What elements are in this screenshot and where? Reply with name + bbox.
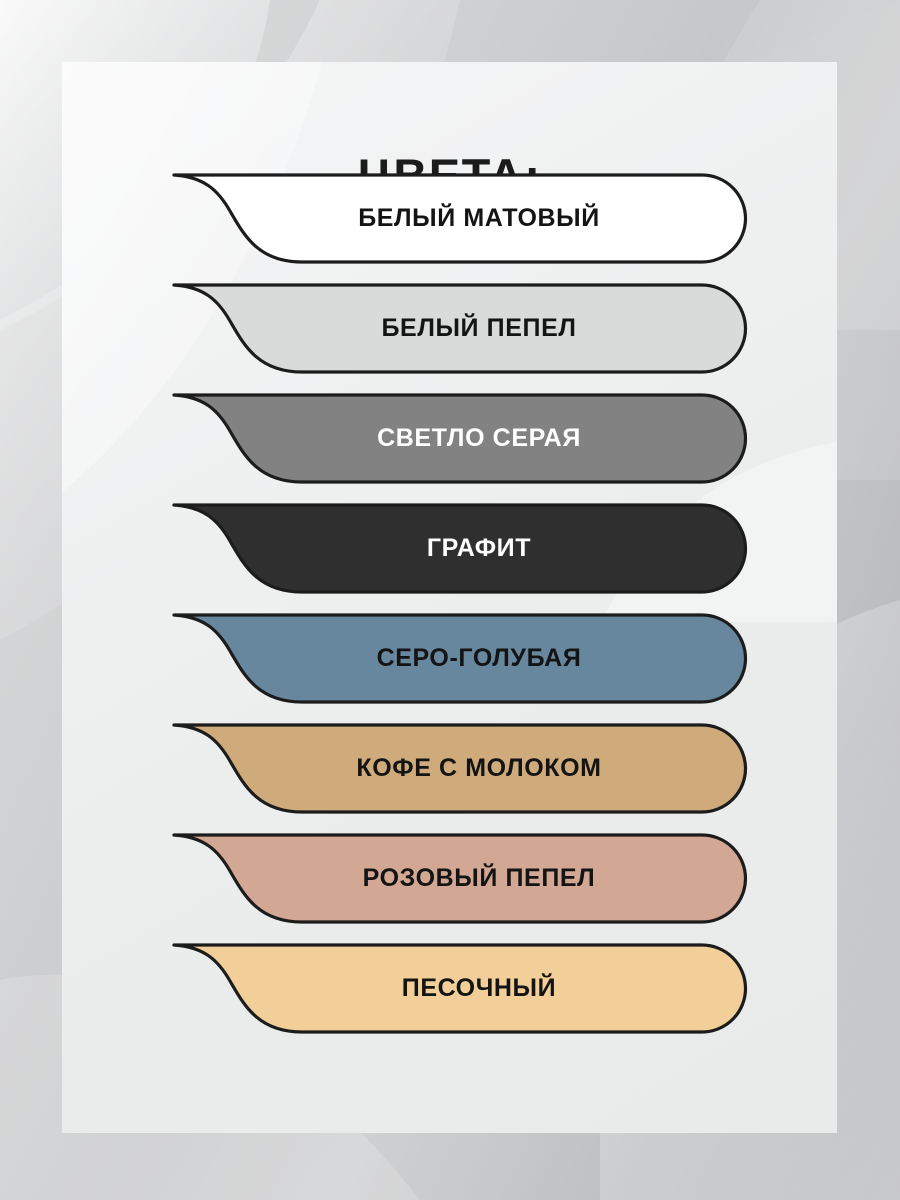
- color-swatch-item[interactable]: ПЕСОЧНЫЙ: [172, 943, 748, 1034]
- color-swatch-item[interactable]: КОФЕ С МОЛОКОМ: [172, 723, 748, 814]
- swatch-shape: [172, 943, 748, 1034]
- color-swatch-list: БЕЛЫЙ МАТОВЫЙ БЕЛЫЙ ПЕПЕЛ СВЕТЛО СЕРАЯ: [172, 173, 748, 1053]
- swatch-fill-7: [174, 945, 746, 1032]
- swatch-shape: [172, 283, 748, 374]
- swatch-shape: [172, 393, 748, 484]
- swatch-shape: [172, 503, 748, 594]
- swatch-fill-0: [174, 175, 746, 262]
- color-swatch-item[interactable]: РОЗОВЫЙ ПЕПЕЛ: [172, 833, 748, 924]
- swatch-fill-6: [174, 835, 746, 922]
- color-swatch-item[interactable]: БЕЛЫЙ МАТОВЫЙ: [172, 173, 748, 264]
- screenshot-canvas: ЦВЕТА: БЕЛЫЙ МАТОВЫЙ БЕЛЫЙ ПЕПЕЛ: [0, 0, 900, 1200]
- swatch-fill-3: [174, 505, 746, 592]
- color-palette-card: ЦВЕТА: БЕЛЫЙ МАТОВЫЙ БЕЛЫЙ ПЕПЕЛ: [62, 62, 837, 1133]
- color-swatch-item[interactable]: БЕЛЫЙ ПЕПЕЛ: [172, 283, 748, 374]
- swatch-fill-2: [174, 395, 746, 482]
- swatch-shape: [172, 723, 748, 814]
- swatch-shape: [172, 833, 748, 924]
- swatch-fill-5: [174, 725, 746, 812]
- color-swatch-item[interactable]: СВЕТЛО СЕРАЯ: [172, 393, 748, 484]
- swatch-shape: [172, 173, 748, 264]
- swatch-fill-4: [174, 615, 746, 702]
- color-swatch-item[interactable]: ГРАФИТ: [172, 503, 748, 594]
- color-swatch-item[interactable]: СЕРО-ГОЛУБАЯ: [172, 613, 748, 704]
- swatch-shape: [172, 613, 748, 704]
- swatch-fill-1: [174, 285, 746, 372]
